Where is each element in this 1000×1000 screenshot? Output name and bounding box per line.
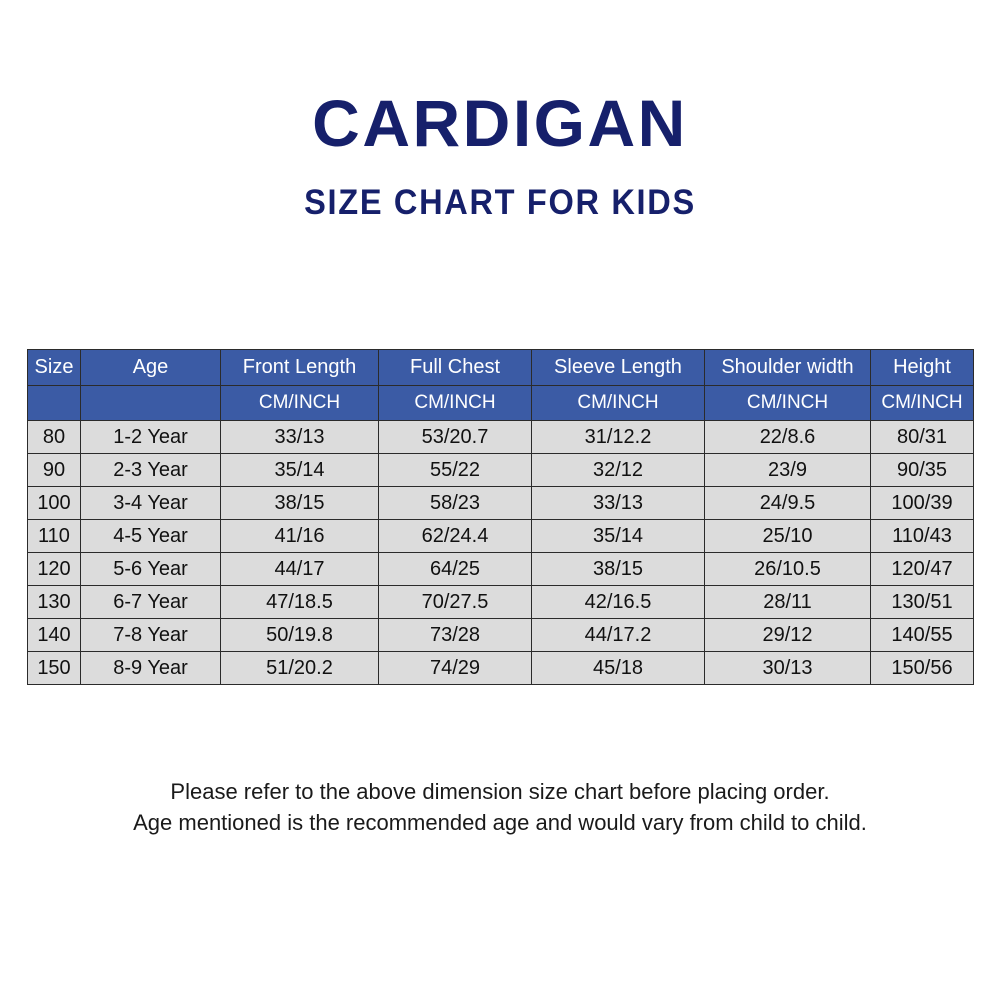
table-row: 100 3-4 Year 38/15 58/23 33/13 24/9.5 10…: [28, 487, 974, 520]
cell-front-length: 41/16: [221, 520, 379, 553]
table-body: 80 1-2 Year 33/13 53/20.7 31/12.2 22/8.6…: [28, 421, 974, 685]
cell-height: 120/47: [871, 553, 974, 586]
cell-shoulder-width: 26/10.5: [705, 553, 871, 586]
table-row: 120 5-6 Year 44/17 64/25 38/15 26/10.5 1…: [28, 553, 974, 586]
cell-full-chest: 62/24.4: [379, 520, 532, 553]
column-units-size: [28, 386, 81, 421]
cell-size: 130: [28, 586, 81, 619]
cell-sleeve-length: 38/15: [532, 553, 705, 586]
cell-sleeve-length: 32/12: [532, 454, 705, 487]
cell-age: 1-2 Year: [81, 421, 221, 454]
cell-shoulder-width: 30/13: [705, 652, 871, 685]
table-row: 130 6-7 Year 47/18.5 70/27.5 42/16.5 28/…: [28, 586, 974, 619]
column-units-height: CM/INCH: [871, 386, 974, 421]
cell-size: 100: [28, 487, 81, 520]
cell-front-length: 38/15: [221, 487, 379, 520]
table-header-row: Size Age Front Length Full Chest Sleeve …: [28, 350, 974, 386]
footer-note: Please refer to the above dimension size…: [0, 776, 1000, 838]
cell-size: 110: [28, 520, 81, 553]
size-chart-page: CARDIGAN SIZE CHART FOR KIDS Size Age Fr…: [0, 0, 1000, 1000]
column-units-shoulder-width: CM/INCH: [705, 386, 871, 421]
cell-size: 140: [28, 619, 81, 652]
cell-full-chest: 74/29: [379, 652, 532, 685]
cell-front-length: 35/14: [221, 454, 379, 487]
column-header-height: Height: [871, 350, 974, 386]
cell-front-length: 50/19.8: [221, 619, 379, 652]
column-header-shoulder-width: Shoulder width: [705, 350, 871, 386]
cell-age: 2-3 Year: [81, 454, 221, 487]
table-row: 140 7-8 Year 50/19.8 73/28 44/17.2 29/12…: [28, 619, 974, 652]
cell-full-chest: 73/28: [379, 619, 532, 652]
table-row: 150 8-9 Year 51/20.2 74/29 45/18 30/13 1…: [28, 652, 974, 685]
cell-height: 130/51: [871, 586, 974, 619]
size-chart-table: Size Age Front Length Full Chest Sleeve …: [27, 349, 974, 685]
cell-front-length: 44/17: [221, 553, 379, 586]
column-header-age: Age: [81, 350, 221, 386]
cell-front-length: 51/20.2: [221, 652, 379, 685]
title-block: CARDIGAN SIZE CHART FOR KIDS: [0, 86, 1000, 224]
cell-height: 110/43: [871, 520, 974, 553]
cell-shoulder-width: 22/8.6: [705, 421, 871, 454]
column-header-size: Size: [28, 350, 81, 386]
cell-full-chest: 53/20.7: [379, 421, 532, 454]
page-title: CARDIGAN: [0, 86, 1000, 160]
column-units-full-chest: CM/INCH: [379, 386, 532, 421]
cell-sleeve-length: 44/17.2: [532, 619, 705, 652]
cell-shoulder-width: 24/9.5: [705, 487, 871, 520]
column-header-full-chest: Full Chest: [379, 350, 532, 386]
cell-age: 6-7 Year: [81, 586, 221, 619]
column-units-sleeve-length: CM/INCH: [532, 386, 705, 421]
column-units-age: [81, 386, 221, 421]
cell-front-length: 33/13: [221, 421, 379, 454]
cell-shoulder-width: 25/10: [705, 520, 871, 553]
cell-shoulder-width: 29/12: [705, 619, 871, 652]
cell-sleeve-length: 45/18: [532, 652, 705, 685]
cell-age: 5-6 Year: [81, 553, 221, 586]
cell-height: 150/56: [871, 652, 974, 685]
footer-note-line-1: Please refer to the above dimension size…: [0, 776, 1000, 807]
cell-sleeve-length: 33/13: [532, 487, 705, 520]
cell-size: 120: [28, 553, 81, 586]
column-header-front-length: Front Length: [221, 350, 379, 386]
cell-age: 4-5 Year: [81, 520, 221, 553]
cell-full-chest: 58/23: [379, 487, 532, 520]
column-header-sleeve-length: Sleeve Length: [532, 350, 705, 386]
page-subtitle: SIZE CHART FOR KIDS: [35, 182, 965, 224]
table-units-row: CM/INCH CM/INCH CM/INCH CM/INCH CM/INCH: [28, 386, 974, 421]
table-row: 80 1-2 Year 33/13 53/20.7 31/12.2 22/8.6…: [28, 421, 974, 454]
cell-height: 90/35: [871, 454, 974, 487]
cell-sleeve-length: 31/12.2: [532, 421, 705, 454]
cell-size: 150: [28, 652, 81, 685]
footer-note-line-2: Age mentioned is the recommended age and…: [0, 807, 1000, 838]
cell-height: 100/39: [871, 487, 974, 520]
cell-sleeve-length: 42/16.5: [532, 586, 705, 619]
cell-shoulder-width: 23/9: [705, 454, 871, 487]
cell-height: 80/31: [871, 421, 974, 454]
cell-sleeve-length: 35/14: [532, 520, 705, 553]
cell-age: 8-9 Year: [81, 652, 221, 685]
cell-size: 90: [28, 454, 81, 487]
cell-size: 80: [28, 421, 81, 454]
table-head: Size Age Front Length Full Chest Sleeve …: [28, 350, 974, 421]
size-chart-table-container: Size Age Front Length Full Chest Sleeve …: [27, 349, 973, 685]
cell-full-chest: 55/22: [379, 454, 532, 487]
column-units-front-length: CM/INCH: [221, 386, 379, 421]
cell-full-chest: 70/27.5: [379, 586, 532, 619]
cell-age: 7-8 Year: [81, 619, 221, 652]
cell-height: 140/55: [871, 619, 974, 652]
cell-age: 3-4 Year: [81, 487, 221, 520]
cell-front-length: 47/18.5: [221, 586, 379, 619]
cell-full-chest: 64/25: [379, 553, 532, 586]
table-row: 110 4-5 Year 41/16 62/24.4 35/14 25/10 1…: [28, 520, 974, 553]
cell-shoulder-width: 28/11: [705, 586, 871, 619]
table-row: 90 2-3 Year 35/14 55/22 32/12 23/9 90/35: [28, 454, 974, 487]
